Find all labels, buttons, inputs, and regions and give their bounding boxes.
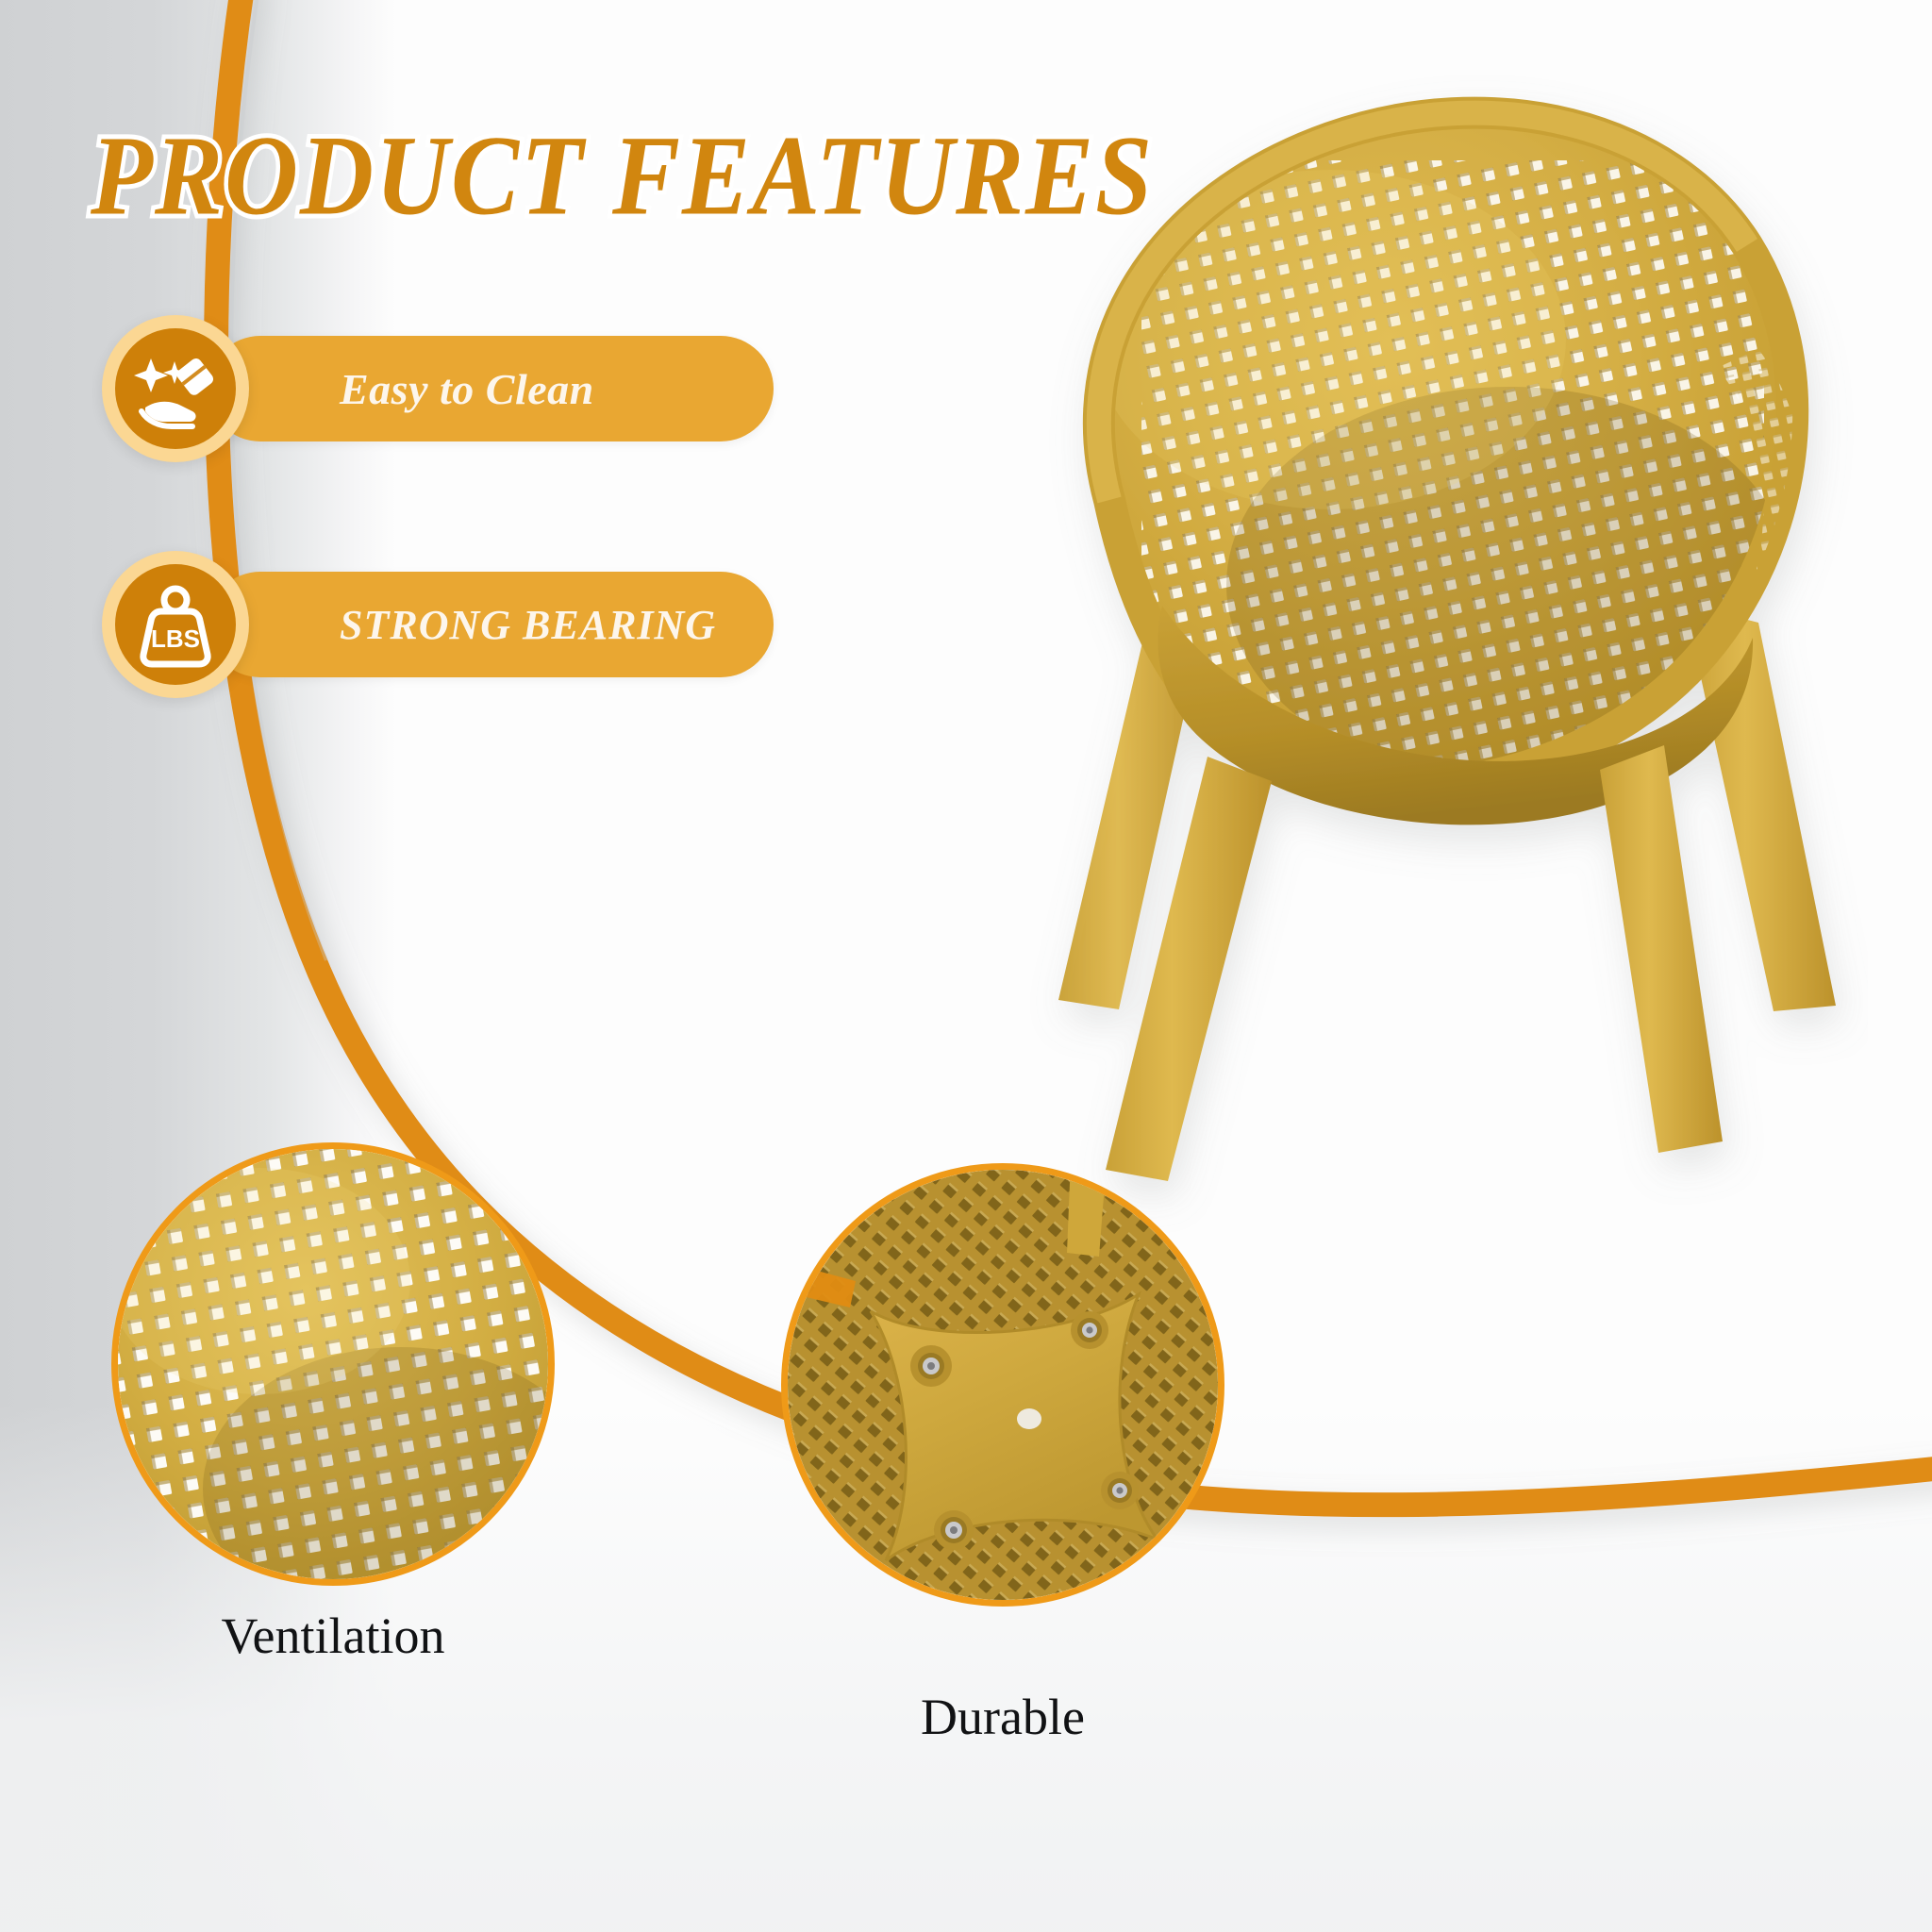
chair-leg-front-right <box>1600 745 1723 1153</box>
underside-closeup-durable <box>788 1170 1224 1607</box>
feature-badge-0 <box>102 315 249 462</box>
sparkle-cloth-icon <box>132 345 219 432</box>
page-title: PRODUCT FEATURES <box>91 111 1154 242</box>
feature-badge-1: LBS <box>102 551 249 698</box>
detail-callout-durable: Durable <box>781 1163 1224 1607</box>
weight-lbs-icon: LBS <box>130 579 221 670</box>
detail-caption-ventilation: Ventilation <box>222 1607 445 1665</box>
detail-callout-ventilation: Ventilation <box>111 1142 555 1586</box>
feature-label-0: Easy to Clean <box>340 364 594 414</box>
feature-pill-0[interactable]: Easy to Clean <box>208 336 774 441</box>
infographic-canvas: PRODUCT FEATURES Easy to Clean <box>0 0 1932 1932</box>
feature-badge-inner-0 <box>115 328 236 449</box>
feature-badge-inner-1: LBS <box>115 564 236 685</box>
mesh-closeup-ventilation <box>118 1149 555 1586</box>
feature-pill-1[interactable]: STRONG BEARING <box>208 572 774 677</box>
detail-disc-ventilation <box>111 1142 555 1586</box>
detail-caption-durable: Durable <box>921 1688 1085 1746</box>
feature-row-strong-bearing[interactable]: STRONG BEARING LBS <box>102 551 249 698</box>
detail-disc-durable <box>781 1163 1224 1607</box>
weight-icon-text: LBS <box>151 625 200 653</box>
feature-row-easy-to-clean[interactable]: Easy to Clean <box>102 315 249 462</box>
page-title-wrap: PRODUCT FEATURES <box>91 111 1154 228</box>
feature-label-1: STRONG BEARING <box>340 601 716 649</box>
mounting-plate <box>871 1294 1158 1560</box>
